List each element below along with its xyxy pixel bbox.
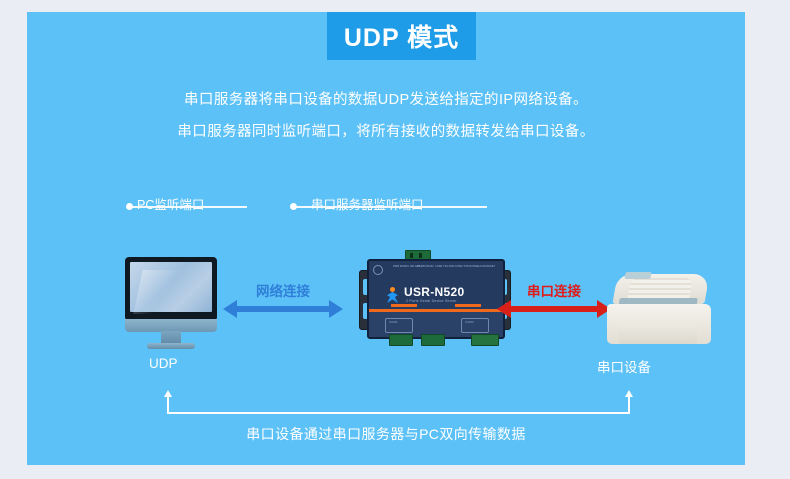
- monitor-stand-foot: [147, 343, 195, 349]
- bracket-left-arrow-head: [164, 390, 172, 397]
- printer-body: [607, 304, 711, 344]
- server-listen-port-dot: [290, 203, 297, 210]
- monitor-caption: UDP: [149, 356, 178, 371]
- serial-arrow-shaft: [509, 306, 599, 312]
- serial-connection-arrow: 串口连接: [497, 280, 611, 318]
- device-port-com1-label: COM1: [389, 320, 398, 324]
- device-body: PWR WORK LINK ACT RS485 RS232 COM1 TXD R…: [367, 259, 505, 339]
- monitor-bezel: [125, 257, 217, 321]
- bottom-note: 串口设备通过串口服务器与PC双向传输数据: [27, 424, 745, 444]
- device-bottom-terminal-2: [421, 334, 445, 346]
- printer-lid-ridges: [627, 278, 693, 300]
- bracket-horizontal-bar: [167, 412, 630, 414]
- device-led-group-2: RS485 RS232: [417, 265, 434, 269]
- printer-icon: [605, 274, 715, 346]
- printer-control-panel: [624, 272, 651, 279]
- device-bottom-terminal-3: [471, 334, 499, 346]
- pc-listen-port-dot: [126, 203, 133, 210]
- desktop-monitor-icon: [125, 257, 217, 349]
- device-led-group-4: RELOAD RESET: [475, 265, 495, 269]
- description-line-1: 串口服务器将串口设备的数据UDP发送给指定的IP网络设备。: [27, 88, 745, 109]
- network-connection-arrow: 网络连接: [223, 280, 343, 318]
- page-title: UDP 模式: [344, 18, 459, 54]
- usr-logo-icon: [385, 287, 400, 304]
- description-line-2: 串口服务器同时监听端口，将所有接收的数据转发给串口设备。: [27, 120, 745, 141]
- bracket-right-arrow-head: [625, 390, 633, 397]
- network-arrow-head-right: [329, 300, 343, 318]
- device-tagline: 2 Ports Serial Device Server: [406, 299, 457, 303]
- device-model-name: USR-N520: [404, 285, 464, 299]
- serial-server-device: PWR WORK LINK ACT RS485 RS232 COM1 TXD R…: [359, 250, 509, 348]
- label-server-listen-port: 串口服务器监听端口: [311, 194, 424, 213]
- device-bottom-terminal-1: [389, 334, 413, 346]
- diagram-panel: UDP 模式 串口服务器将串口设备的数据UDP发送给指定的IP网络设备。 串口服…: [27, 12, 745, 465]
- label-pc-listen-port: PC监听端口: [137, 194, 204, 213]
- device-port-com2-label: COM2: [465, 320, 474, 324]
- bidirectional-bracket: [167, 390, 630, 416]
- device-led-group-3: COM1 TXD RXD COM2 TXD RXD: [435, 265, 475, 269]
- server-listen-port-line: [293, 206, 487, 208]
- title-banner: UDP 模式: [327, 12, 476, 60]
- screenshot-stage: UDP 模式 串口服务器将串口设备的数据UDP发送给指定的IP网络设备。 串口服…: [0, 0, 790, 479]
- network-connection-label: 网络连接: [223, 280, 343, 300]
- monitor-screen: [130, 262, 212, 312]
- printer-front-cover: [619, 324, 697, 344]
- monitor-glare: [133, 270, 182, 314]
- pc-listen-port-line: [129, 206, 247, 208]
- bracket-right-stem: [628, 396, 630, 414]
- printer-caption: 串口设备: [597, 356, 651, 376]
- network-arrow-shaft: [235, 306, 331, 312]
- serial-connection-label: 串口连接: [497, 280, 611, 300]
- device-led-legend: PWR WORK LINK ACT RS485 RS232 COM1 TXD R…: [375, 265, 497, 279]
